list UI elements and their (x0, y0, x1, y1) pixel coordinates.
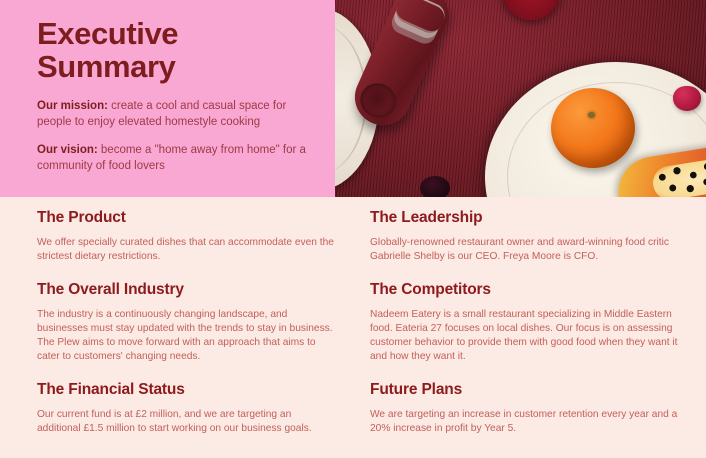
section-body-competitors: Nadeem Eatery is a small restaurant spec… (370, 308, 694, 364)
section-body-overall-industry: The industry is a continuously changing … (37, 308, 335, 364)
papaya-seeds (651, 155, 706, 197)
section-body-product: We offer specially curated dishes that c… (37, 236, 335, 264)
section-title-product: The Product (37, 209, 335, 227)
raspberry-fruit (673, 86, 701, 111)
section-title-overall-industry: The Overall Industry (37, 281, 335, 299)
hero-band: Executive Summary Our mission: create a … (0, 0, 706, 197)
section-body-leadership: Globally-renowned restaurant owner and a… (370, 236, 694, 264)
section-title-future-plans: Future Plans (370, 381, 694, 399)
mission-statement: Our mission: create a cool and casual sp… (37, 99, 307, 130)
right-column: The Leadership Globally-renowned restaur… (353, 209, 694, 458)
left-column: The Product We offer specially curated d… (37, 209, 353, 458)
vision-statement: Our vision: become a "home away from hom… (37, 143, 307, 174)
section-body-future-plans: We are targeting an increase in customer… (370, 408, 694, 436)
section-title-leadership: The Leadership (370, 209, 694, 227)
section-body-financial-status: Our current fund is at £2 million, and w… (37, 408, 335, 436)
section-title-competitors: The Competitors (370, 281, 694, 299)
dining-table-photo (335, 0, 706, 197)
executive-summary-slide: Executive Summary Our mission: create a … (0, 0, 706, 458)
vision-label: Our vision: (37, 144, 98, 156)
orange-fruit (551, 88, 635, 168)
section-title-financial-status: The Financial Status (37, 381, 335, 399)
hero-pink-panel: Executive Summary Our mission: create a … (0, 0, 335, 197)
page-title: Executive Summary (37, 17, 307, 83)
dark-berry (420, 176, 450, 197)
mission-label: Our mission: (37, 100, 108, 112)
content-columns: The Product We offer specially curated d… (0, 197, 706, 458)
